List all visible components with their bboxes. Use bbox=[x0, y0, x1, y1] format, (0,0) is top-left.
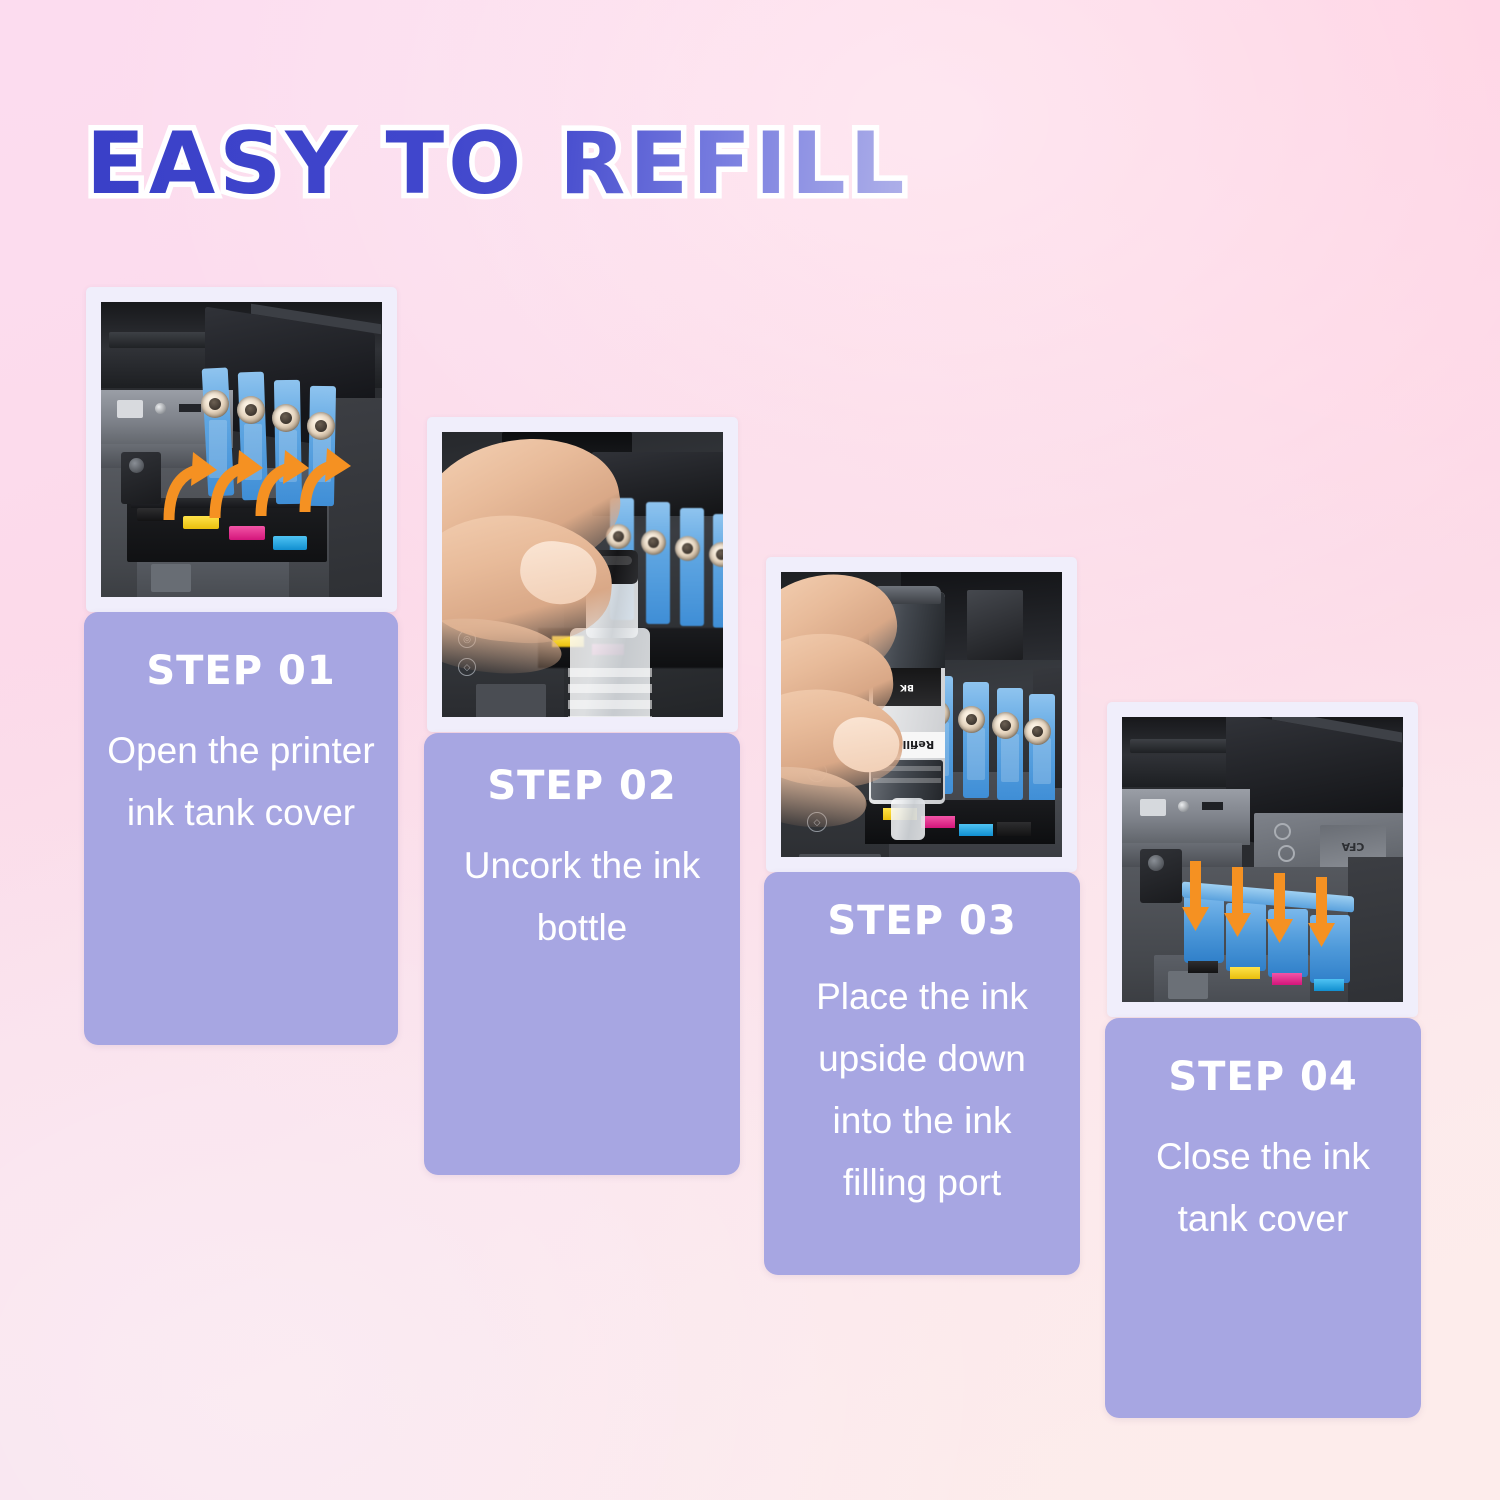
step-1-number: STEP 01 bbox=[84, 648, 398, 694]
step-2-number: STEP 02 bbox=[424, 763, 740, 809]
step-4-card: STEP 04 Close the ink tank cover bbox=[1105, 1018, 1421, 1418]
step-1-card: STEP 01 Open the printer ink tank cover bbox=[84, 612, 398, 1045]
step-2-card: STEP 02 Uncork the ink bottle bbox=[424, 733, 740, 1175]
step-1-caption: Open the printer ink tank cover bbox=[84, 720, 398, 844]
step-3-photo: ◎ ◇ BK bbox=[781, 572, 1062, 857]
step-4-photo: CFA bbox=[1122, 717, 1403, 1002]
step-4-photo-frame: CFA bbox=[1107, 702, 1418, 1017]
step-1-orange-arrows bbox=[153, 442, 353, 524]
step-4-caption: Close the ink tank cover bbox=[1105, 1126, 1421, 1250]
step-3-caption: Place the ink upside down into the ink f… bbox=[764, 966, 1080, 1215]
step-2-caption: Uncork the ink bottle bbox=[424, 835, 740, 959]
page-title: EASY TO REFILL EASY TO REFILL bbox=[86, 112, 1086, 216]
step-1-photo bbox=[101, 302, 382, 597]
step-2-photo-frame: ◎ ◇ bbox=[427, 417, 738, 732]
step-4-orange-arrows bbox=[1180, 861, 1360, 947]
step-3-number: STEP 03 bbox=[764, 898, 1080, 944]
step-2-photo: ◎ ◇ bbox=[442, 432, 723, 717]
step-3-card: STEP 03 Place the ink upside down into t… bbox=[764, 872, 1080, 1275]
page-title-text: EASY TO REFILL bbox=[86, 112, 1086, 216]
step-1-photo-frame bbox=[86, 287, 397, 612]
step-3-photo-frame: ◎ ◇ BK bbox=[766, 557, 1077, 872]
step-4-number: STEP 04 bbox=[1105, 1054, 1421, 1100]
